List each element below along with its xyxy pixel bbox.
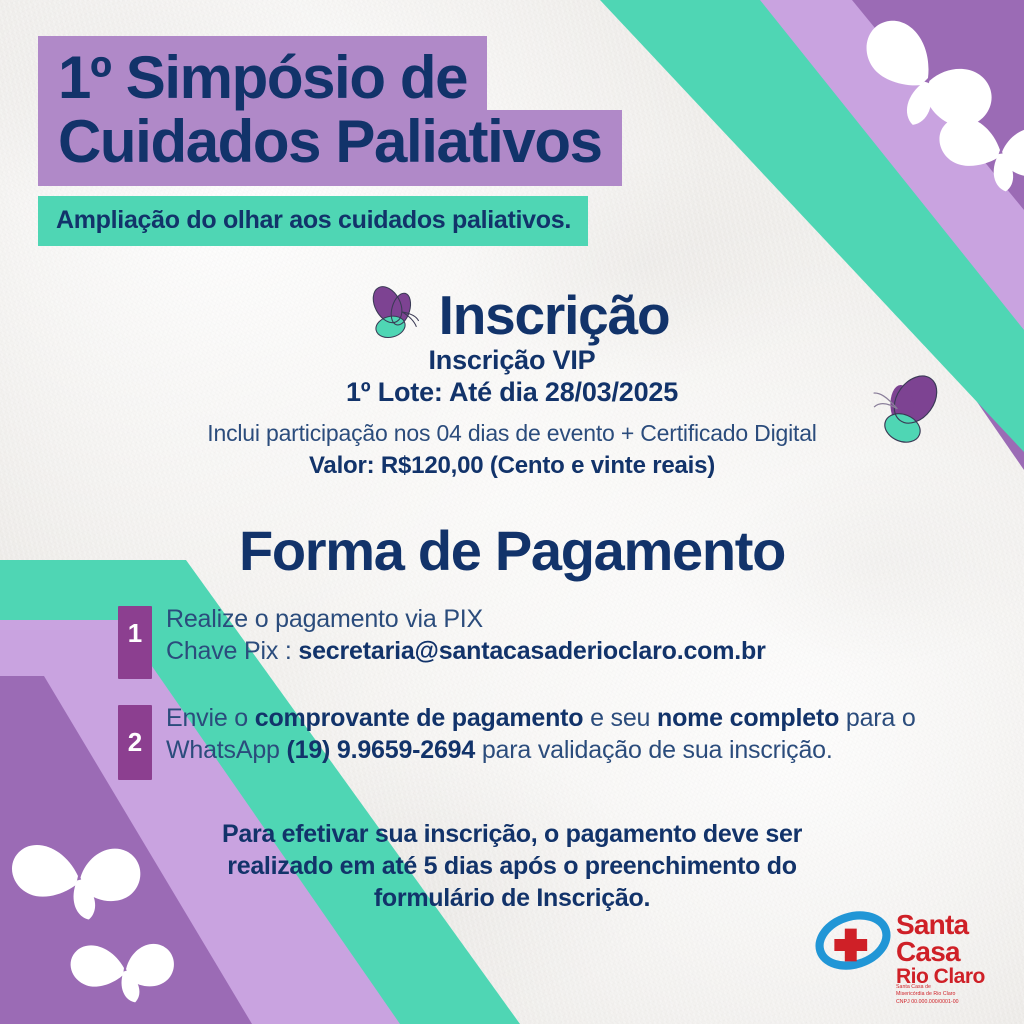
logo-line-casa: Casa	[896, 939, 985, 966]
payment-step-2: 2 Envie o comprovante de pagamento e seu…	[118, 703, 948, 780]
pix-key-value[interactable]: secretaria@santacasaderioclaro.com.br	[298, 637, 765, 665]
deadline-notice: Para efetivar sua inscrição, o pagamento…	[0, 818, 1024, 914]
page-title-line-2: Cuidados Paliativos	[38, 110, 622, 186]
step-text-1: Realize o pagamento via PIX Chave Pix : …	[166, 604, 766, 667]
step-number-badge-2: 2	[118, 705, 152, 780]
poster-title-block: 1º Simpósio de Cuidados Paliativos	[38, 36, 622, 186]
step-1-line-1: Realize o pagamento via PIX	[166, 605, 483, 633]
butterfly-icon-right	[860, 366, 956, 462]
step-2-bold-fullname: nome completo	[657, 704, 839, 732]
logo-subtext-line-2: Misericórdia de Rio Claro	[896, 991, 959, 998]
page-title-line-1: 1º Simpósio de	[38, 36, 487, 110]
page-subtitle: Ampliação do olhar aos cuidados paliativ…	[38, 196, 588, 246]
step-2-part-4: para validação de sua inscrição.	[475, 736, 833, 764]
santa-casa-logo: Santa Casa Rio Claro Santa Casa de Miser…	[812, 906, 1012, 998]
whatsapp-number[interactable]: (19) 9.9659-2694	[286, 736, 475, 764]
step-2-bold-receipt: comprovante de pagamento	[255, 704, 584, 732]
logo-subtext-line-1: Santa Casa de	[896, 984, 959, 991]
step-text-2: Envie o comprovante de pagamento e seu n…	[166, 703, 948, 766]
step-2-part-1: Envie o	[166, 704, 255, 732]
registration-title: Inscrição	[439, 288, 670, 343]
payment-title: Forma de Pagamento	[0, 518, 1024, 583]
logo-subtext-line-3: CNPJ 00.000.000/0001-00	[896, 999, 959, 1006]
logo-subtext: Santa Casa de Misericórdia de Rio Claro …	[896, 984, 959, 1006]
payment-steps: 1 Realize o pagamento via PIX Chave Pix …	[118, 604, 948, 804]
step-2-part-2: e seu	[583, 704, 657, 732]
notice-line-2: realizado em até 5 dias após o preenchim…	[0, 850, 1024, 882]
logo-wordmark: Santa Casa Rio Claro	[896, 912, 985, 987]
poster-canvas: 1º Simpósio de Cuidados Paliativos Ampli…	[0, 0, 1024, 1024]
logo-line-santa: Santa	[896, 912, 985, 939]
payment-step-1: 1 Realize o pagamento via PIX Chave Pix …	[118, 604, 948, 679]
step-1-pix-label: Chave Pix :	[166, 637, 298, 665]
notice-line-1: Para efetivar sua inscrição, o pagamento…	[0, 818, 1024, 850]
step-number-badge-1: 1	[118, 606, 152, 679]
logo-mark-icon	[812, 906, 894, 978]
butterfly-icon-left	[355, 278, 429, 352]
